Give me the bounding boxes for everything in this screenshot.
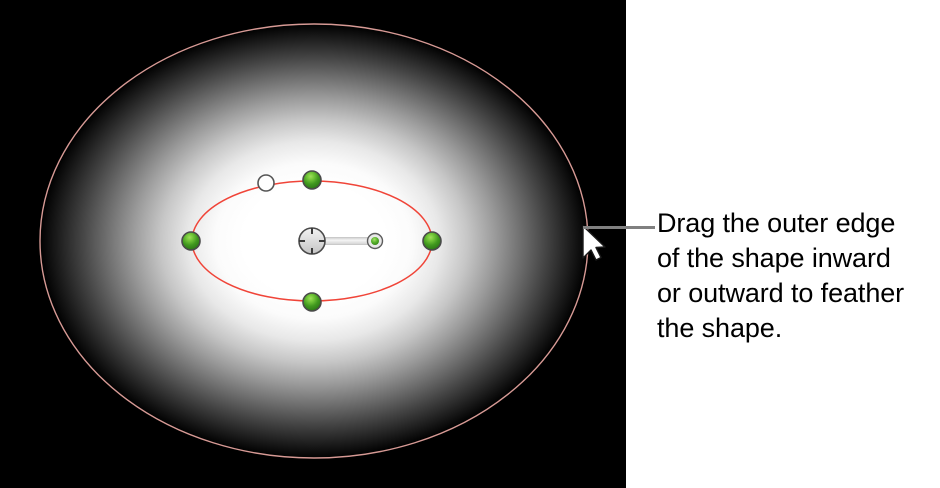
callout-line-3: or outward to feather (657, 276, 940, 311)
callout-line-4: the shape. (657, 311, 940, 346)
mask-preview-canvas[interactable] (0, 0, 626, 488)
callout-line-1: Drag the outer edge (657, 206, 940, 241)
handle-left[interactable] (182, 232, 200, 250)
handle-bottom[interactable] (303, 293, 321, 311)
mask-shape-graphics (0, 0, 626, 488)
falloff-slider-handle[interactable] (368, 234, 383, 249)
handle-right[interactable] (423, 232, 441, 250)
callout-text: Drag the outer edge of the shape inward … (657, 206, 940, 346)
handle-top[interactable] (303, 171, 321, 189)
callout: Drag the outer edge of the shape inward … (583, 206, 940, 366)
falloff-slider-track[interactable] (320, 238, 375, 245)
callout-leader-line (583, 226, 655, 229)
handle-rotate[interactable] (258, 175, 274, 191)
center-move-handle[interactable] (299, 228, 325, 254)
screenshot-root: Drag the outer edge of the shape inward … (0, 0, 940, 488)
callout-line-2: of the shape inward (657, 241, 940, 276)
